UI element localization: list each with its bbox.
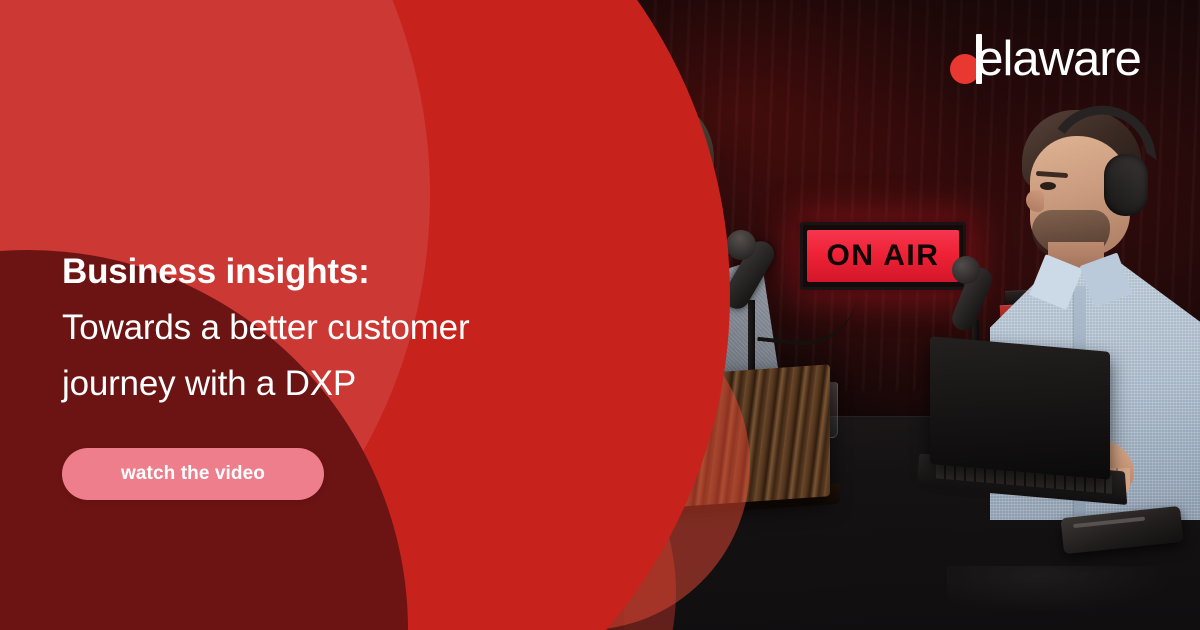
watch-the-video-button[interactable]: watch the video <box>62 448 324 500</box>
headline-line-1: Business insights: <box>62 244 622 300</box>
logo-wordmark: delaware <box>950 34 1141 84</box>
logo-mark: delaware <box>950 34 1162 88</box>
headline-line-3: journey with a DXP <box>62 356 622 412</box>
page-title: Business insights: Towards a better cust… <box>62 244 622 412</box>
headline-line-2: Towards a better customer <box>62 300 622 356</box>
banner-content: delaware Business insights: Towards a be… <box>0 0 1200 630</box>
promo-banner: ON AIR NEW YORK IN A... <box>0 0 1200 630</box>
delaware-logo[interactable]: delaware <box>950 34 1162 88</box>
